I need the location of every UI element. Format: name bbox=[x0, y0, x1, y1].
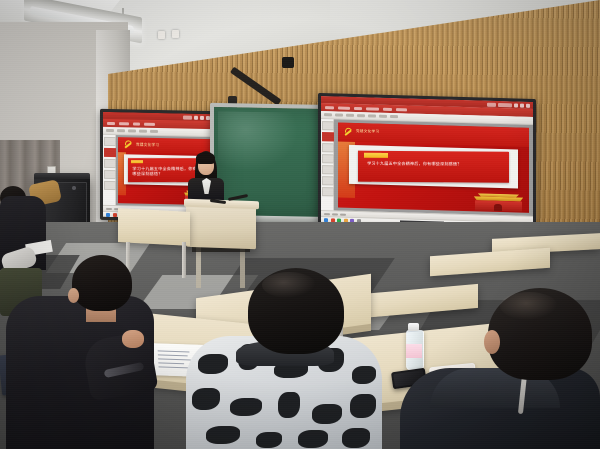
classroom-desk bbox=[118, 208, 190, 246]
camo-patch bbox=[352, 366, 376, 384]
wall-socket bbox=[158, 31, 165, 39]
ribbon-tab[interactable] bbox=[366, 107, 379, 110]
presentation-slide: 党建文化学习 学习十九届五中全会精神后，你有哪些深刻感悟？ bbox=[338, 122, 529, 213]
status-item bbox=[340, 213, 346, 215]
camo-patch bbox=[312, 404, 342, 424]
title-chip bbox=[498, 102, 512, 106]
toolbar-button[interactable] bbox=[390, 115, 398, 118]
paper-line bbox=[158, 350, 190, 352]
ribbon-tab[interactable] bbox=[354, 106, 362, 109]
title-chip bbox=[183, 115, 192, 119]
slide-thumbnail[interactable] bbox=[104, 170, 116, 179]
status-item bbox=[324, 213, 330, 215]
status-item bbox=[106, 207, 112, 209]
student-writing-head bbox=[72, 255, 132, 311]
title-chip bbox=[487, 102, 496, 106]
slide-header: 党建文化学习 bbox=[118, 137, 211, 153]
camo-patch bbox=[298, 430, 328, 448]
maximize-icon[interactable] bbox=[520, 103, 524, 107]
toolbar-button[interactable] bbox=[368, 114, 376, 117]
slide-body-panel: 学习十九届五中全会精神后，你有哪些深刻感悟？ bbox=[349, 145, 517, 189]
ribbon-tab[interactable] bbox=[133, 122, 140, 125]
taskbar-icon-explorer[interactable] bbox=[106, 212, 110, 216]
slide-thumbnail-pane[interactable] bbox=[321, 119, 334, 210]
slide-thumbnail[interactable] bbox=[322, 176, 334, 185]
close-icon[interactable] bbox=[526, 103, 530, 107]
camo-patch bbox=[278, 392, 300, 418]
paper-line bbox=[158, 366, 188, 368]
podium-leg bbox=[196, 246, 201, 288]
wooden-lectern bbox=[186, 203, 256, 249]
student-hand bbox=[122, 330, 144, 348]
camo-patch bbox=[198, 354, 228, 374]
toolbar-button[interactable] bbox=[357, 114, 365, 117]
slide-tag bbox=[364, 153, 388, 157]
bottle-label bbox=[406, 344, 422, 358]
right-lcd-display[interactable]: 党建文化学习 学习十九届五中全会精神后，你有哪些深刻感悟？ bbox=[318, 93, 536, 231]
ribbon-tab[interactable] bbox=[325, 106, 334, 109]
right-screen-content: 党建文化学习 学习十九届五中全会精神后，你有哪些深刻感悟？ bbox=[321, 96, 533, 228]
bottle-cap bbox=[408, 323, 419, 331]
ribbon-tab[interactable] bbox=[144, 122, 155, 125]
paper-line bbox=[158, 362, 184, 364]
slide-thumbnail[interactable] bbox=[104, 181, 116, 190]
slide-thumbnail[interactable] bbox=[104, 159, 116, 168]
status-item bbox=[332, 213, 338, 215]
student-ear bbox=[68, 288, 79, 303]
slide-thumbnail[interactable] bbox=[322, 143, 334, 152]
camo-patch bbox=[230, 398, 262, 416]
gate-arch bbox=[494, 204, 502, 211]
toolbar-button[interactable] bbox=[117, 129, 125, 132]
slide-thumbnail-selected[interactable] bbox=[104, 148, 116, 157]
presenter-fringe bbox=[196, 152, 215, 164]
slide-thumbnail[interactable] bbox=[104, 137, 116, 146]
toolbar-button[interactable] bbox=[139, 130, 147, 133]
ribbon-tab[interactable] bbox=[107, 121, 115, 124]
camo-patch bbox=[256, 432, 282, 448]
toolbar-button[interactable] bbox=[335, 113, 343, 116]
communist-party-emblem bbox=[123, 140, 133, 150]
toolbar-button[interactable] bbox=[324, 113, 332, 116]
ribbon-tab[interactable] bbox=[338, 106, 350, 109]
slide-question-box: 学习十九届五中全会精神后，你有哪些深刻感悟？ bbox=[358, 151, 509, 183]
communist-party-emblem bbox=[343, 127, 353, 137]
hair-highlight bbox=[500, 292, 558, 320]
ribbon-tab[interactable] bbox=[383, 107, 392, 110]
slide-thumbnail[interactable] bbox=[322, 187, 334, 196]
slide-thumbnail[interactable] bbox=[322, 154, 334, 163]
slide-thumbnail[interactable] bbox=[322, 121, 334, 130]
camo-patch bbox=[350, 394, 376, 418]
ribbon-tab[interactable] bbox=[119, 122, 129, 125]
toolbar-button[interactable] bbox=[379, 115, 387, 118]
slide-tag bbox=[131, 160, 143, 163]
toolbar-button[interactable] bbox=[150, 130, 158, 133]
slide-header-title: 党建文化学习 bbox=[136, 143, 159, 147]
taskbar-icon-ppt[interactable] bbox=[113, 213, 117, 217]
podium-leg bbox=[240, 246, 245, 288]
slide-header: 党建文化学习 bbox=[338, 122, 529, 146]
maximize-icon[interactable] bbox=[200, 115, 204, 119]
paper-line bbox=[158, 354, 188, 356]
hair-highlight bbox=[262, 272, 316, 298]
student-ear bbox=[484, 330, 500, 354]
av-rack-handle[interactable] bbox=[72, 186, 76, 190]
av-rack-top bbox=[34, 173, 90, 179]
slide-thumbnail[interactable] bbox=[322, 165, 334, 174]
toolbar-button[interactable] bbox=[128, 129, 136, 132]
camo-patch bbox=[342, 428, 370, 448]
slide-canvas[interactable]: 党建文化学习 学习十九届五中全会精神后，你有哪些深刻感悟？ bbox=[334, 119, 533, 216]
classroom-photo: 党建文化学习 学习十九届五中全会精神后，你有哪些深刻感悟？ bbox=[0, 0, 600, 449]
chalkboard-glare bbox=[218, 111, 298, 172]
wall-socket bbox=[172, 30, 179, 38]
minimize-icon[interactable] bbox=[194, 115, 198, 119]
ribbon-tab[interactable] bbox=[396, 108, 407, 111]
slide-question-text: 学习十九届五中全会精神后，你有哪些深刻感悟？ bbox=[367, 160, 500, 167]
toolbar-button[interactable] bbox=[346, 114, 354, 117]
minimize-icon[interactable] bbox=[514, 103, 518, 107]
camo-patch bbox=[206, 426, 240, 444]
slide-header-title: 党建文化学习 bbox=[356, 130, 379, 134]
tiananmen-gate-illustration bbox=[474, 191, 524, 211]
slide-question-text: 学习十九届五中全会精神后，你有哪些深刻感悟？ bbox=[132, 166, 197, 178]
slide-thumbnail-selected[interactable] bbox=[322, 132, 334, 141]
slide-thumbnail-pane[interactable] bbox=[103, 135, 116, 205]
toolbar-button[interactable] bbox=[106, 129, 114, 132]
camo-patch bbox=[192, 388, 220, 410]
paper-line bbox=[158, 358, 191, 360]
desk-leg bbox=[182, 242, 186, 278]
boom-arm-head bbox=[282, 57, 294, 68]
